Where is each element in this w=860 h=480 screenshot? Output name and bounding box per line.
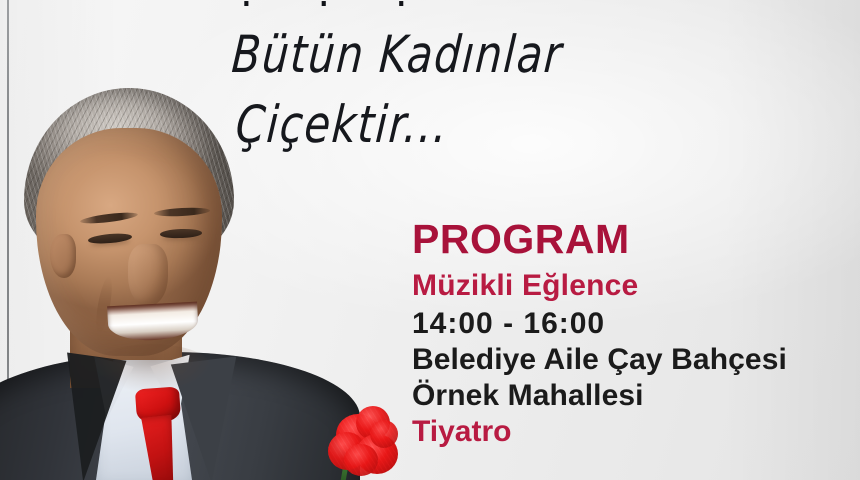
smiling-mouth — [107, 302, 199, 343]
necktie-knot — [135, 387, 181, 424]
flower-petal — [370, 420, 398, 448]
flower-petal — [356, 434, 398, 474]
hair — [24, 88, 234, 270]
suit-lapel-right — [171, 356, 251, 480]
poster-canvas: ‧ ‧ ‧ — [0, 0, 860, 480]
chin-shadow — [92, 344, 212, 392]
cheek-crease — [93, 275, 115, 334]
dress-shirt — [96, 360, 192, 480]
venue-name: Belediye Aile Çay Bahçesi — [412, 343, 860, 377]
eyebrow-right — [154, 207, 210, 218]
ear — [50, 234, 76, 278]
hair-texture — [24, 88, 234, 270]
program-details: PROGRAM Müzikli Eğlence 14:00 - 16:00 Be… — [410, 218, 860, 449]
cut-off-handwriting-fragment: ‧ ‧ ‧ — [240, 0, 840, 8]
neck — [70, 318, 182, 388]
flower-petal — [356, 406, 390, 440]
left-margin-rule — [7, 0, 9, 480]
program-next-item: Tiyatro — [412, 415, 860, 449]
program-heading: PROGRAM — [412, 218, 860, 261]
face — [36, 128, 222, 356]
program-subheading: Müzikli Eğlence — [412, 269, 860, 303]
suit-lapel-left — [50, 352, 127, 480]
eyebrow-left — [80, 210, 139, 225]
necktie-body — [136, 414, 183, 480]
shirt-collar-left — [90, 357, 134, 422]
flower-petal — [344, 444, 378, 476]
venue-district: Örnek Mahallesi — [412, 379, 860, 413]
nose — [128, 244, 168, 306]
handwritten-slogan: Bütün Kadınlar Çiçektir... — [232, 34, 702, 146]
red-carnation-icon — [326, 404, 402, 478]
flower-petal — [336, 414, 380, 456]
flower-petal — [328, 432, 366, 470]
slogan-line-1: Bütün Kadınlar — [230, 29, 704, 80]
slogan-line-2: Çiçektir... — [234, 99, 704, 150]
shirt-collar-right — [150, 355, 194, 422]
eye-right — [160, 228, 202, 238]
flower-stem — [340, 462, 349, 480]
suit-jacket — [0, 352, 360, 480]
program-time: 14:00 - 16:00 — [412, 307, 860, 341]
eye-left — [88, 232, 133, 245]
